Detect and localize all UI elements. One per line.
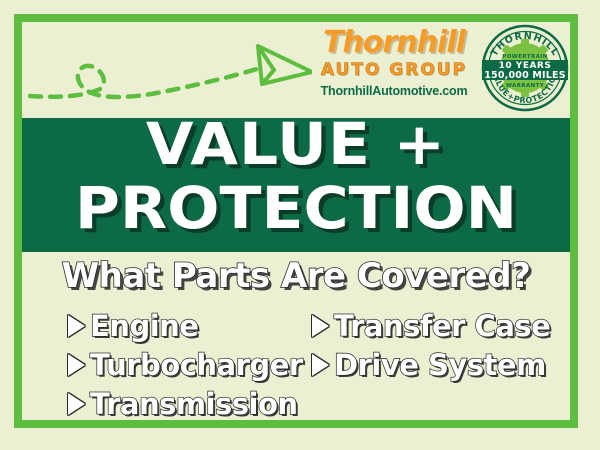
thornhill-logo: Thornhill AUTO GROUP ThornhillAutomotive… xyxy=(314,24,474,116)
header-zone: Thornhill AUTO GROUP ThornhillAutomotive… xyxy=(22,22,570,118)
covered-parts-list: Engine Turbocharger Transmission Transfe… xyxy=(30,306,570,424)
logo-script-name: Thornhill xyxy=(314,26,474,60)
part-label: Transmission xyxy=(90,388,298,420)
parts-column-right: Transfer Case Drive System xyxy=(312,306,550,384)
triangle-right-icon xyxy=(68,393,85,415)
seal-powertrain-label: POWERTRAIN xyxy=(502,54,547,60)
headline-line-2: PROTECTION xyxy=(6,176,587,240)
logo-website[interactable]: ThornhillAutomotive.com xyxy=(314,83,474,99)
triangle-right-icon xyxy=(68,315,85,337)
part-label: Transfer Case xyxy=(334,310,550,342)
seal-miles: 150,000 MILES xyxy=(484,70,566,81)
list-item: Turbocharger xyxy=(68,345,303,384)
triangle-right-icon xyxy=(312,315,329,337)
subheading: What Parts Are Covered? xyxy=(22,254,570,298)
seal-warranty-label: WARRANTY xyxy=(506,83,545,89)
triangle-right-icon xyxy=(68,354,85,376)
triangle-right-icon xyxy=(312,354,329,376)
list-item: Transmission xyxy=(68,384,303,423)
list-item: Transfer Case xyxy=(312,306,550,345)
dashed-flight-path-icon xyxy=(22,24,312,116)
part-label: Drive System xyxy=(334,349,546,381)
parts-column-left: Engine Turbocharger Transmission xyxy=(68,306,303,423)
part-label: Turbocharger xyxy=(90,349,303,381)
headline-line-1: VALUE + xyxy=(6,112,587,176)
headline: VALUE + PROTECTION xyxy=(22,112,570,252)
warranty-seal-badge: THORNHILL VALUE+PROTECTION POWERTRAIN 10… xyxy=(480,22,570,114)
logo-auto-group: AUTO GROUP xyxy=(314,60,474,80)
part-label: Engine xyxy=(90,310,198,342)
list-item: Drive System xyxy=(312,345,550,384)
advertisement-banner: Thornhill AUTO GROUP ThornhillAutomotive… xyxy=(0,0,600,450)
list-item: Engine xyxy=(68,306,303,345)
